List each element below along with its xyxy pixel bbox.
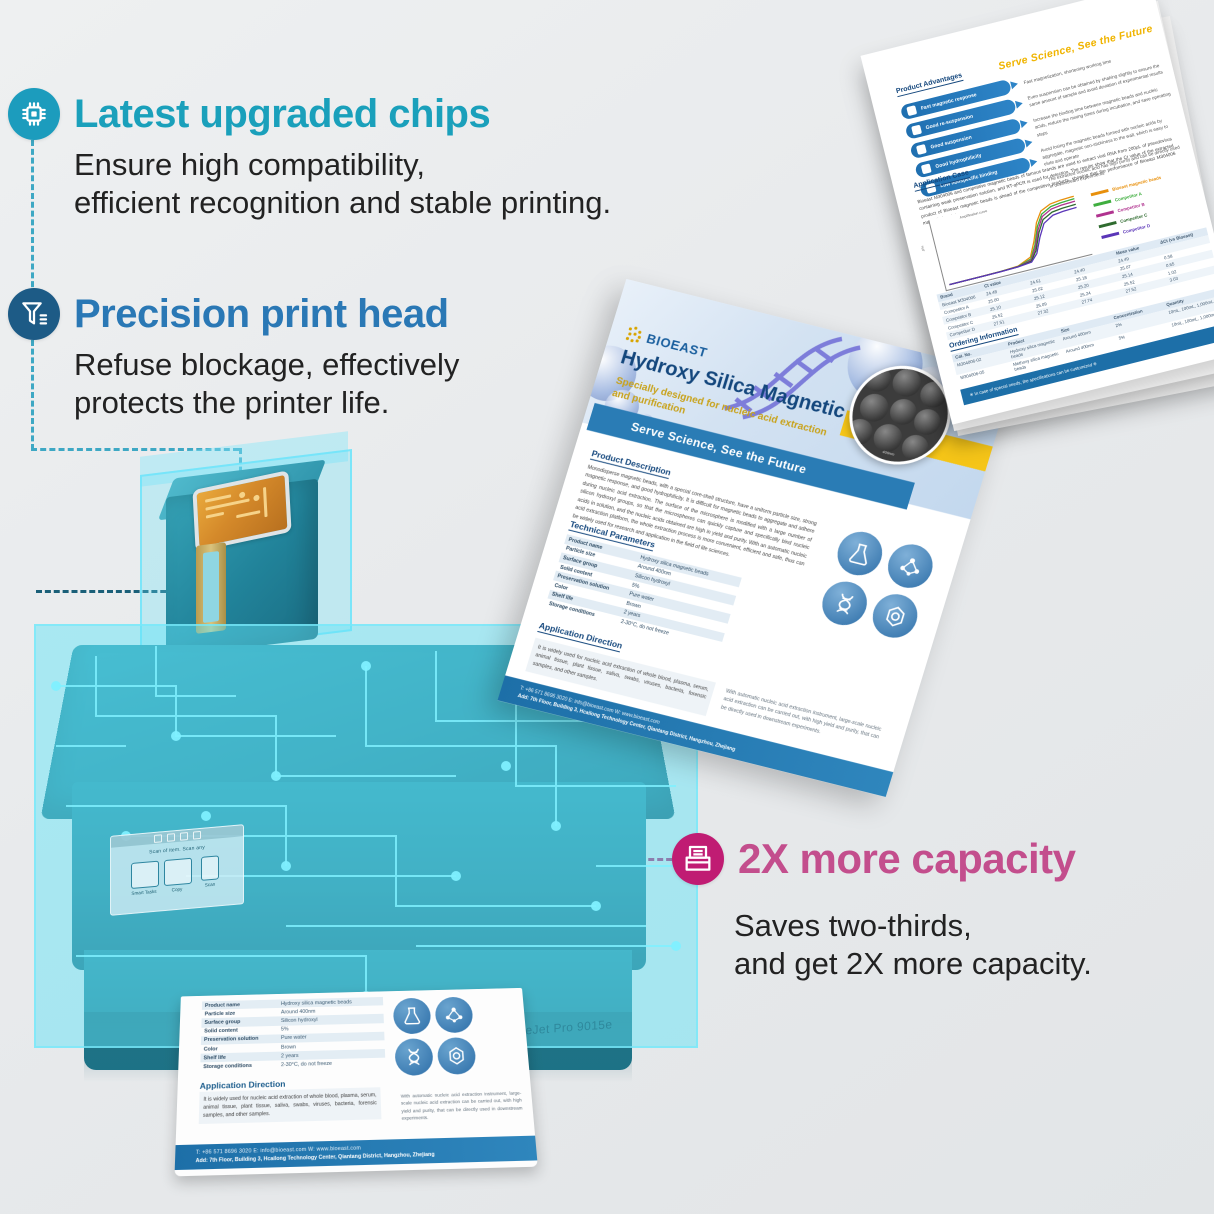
brochure-back-pages: Serve Science, See the Future Product Ad… <box>902 6 1214 426</box>
feature-line: Refuse blockage, effectively <box>74 346 459 384</box>
feature-heading-row: Latest upgraded chips <box>8 88 611 140</box>
param-name: Shelf life <box>203 1053 281 1061</box>
panel-status-icon <box>154 834 162 843</box>
panel-ink-icon <box>180 832 188 841</box>
molecule-icon <box>883 540 939 593</box>
legend-label: Competitor B <box>1117 202 1145 214</box>
param-value: 5% <box>281 1027 289 1033</box>
panel-app-label: Smart Tasks <box>131 889 157 896</box>
feature-title: 2X more capacity <box>738 838 1076 880</box>
param-value: Brown <box>281 1044 296 1050</box>
paper-tray-icon <box>672 833 724 885</box>
dna-icon <box>916 144 927 155</box>
dna-icon <box>817 577 873 630</box>
print-head-nozzle <box>196 542 226 634</box>
legend-swatch <box>1091 189 1109 195</box>
param-name: Storage conditions <box>203 1062 281 1070</box>
feature-body: Saves two-thirds, and get 2X more capaci… <box>734 907 1092 983</box>
droplet-icon <box>921 163 932 174</box>
param-name: Color <box>204 1044 281 1052</box>
chart-ylabel: ΔRn <box>920 245 925 252</box>
legend-swatch <box>1101 232 1119 238</box>
output-application-text: It is widely used for nucleic acid extra… <box>199 1087 382 1124</box>
feature-capacity: 2X more capacity Saves two-thirds, and g… <box>672 833 1092 983</box>
legend-label: Competitor D <box>1122 223 1150 235</box>
feature-body: Ensure high compatibility, efficient rec… <box>74 146 611 222</box>
param-value: Silicon hydroxyl <box>281 1017 318 1024</box>
feature-line: Saves two-thirds, <box>734 907 1092 945</box>
panel-info-icon <box>193 830 201 839</box>
magnet-icon <box>906 105 917 116</box>
feature-body: Refuse blockage, effectively protects th… <box>74 346 459 422</box>
smart-tasks-icon <box>131 861 159 889</box>
scan-icon <box>201 855 219 881</box>
brochure-icon-cluster <box>817 527 938 642</box>
param-value: 2-30°C, do not freeze <box>281 1061 332 1068</box>
brochure-back-page: Serve Science, See the Future Product Ad… <box>860 0 1214 425</box>
param-value: 5% <box>631 582 640 590</box>
legend-swatch <box>1096 211 1114 217</box>
feature-heading-row: Precision print head <box>8 288 459 340</box>
output-icon-grid <box>393 997 477 1076</box>
param-value: Pure water <box>281 1035 307 1041</box>
feature-chips: Latest upgraded chips Ensure high compat… <box>8 88 611 222</box>
tube-icon <box>911 125 922 136</box>
feature-title: Precision print head <box>74 294 449 334</box>
benzene-icon <box>867 590 923 643</box>
bioeast-dot-mark-icon <box>624 325 644 344</box>
chip-icon <box>8 88 60 140</box>
legend-swatch <box>1093 200 1111 206</box>
panel-app-smart-tasks[interactable]: Smart Tasks <box>131 861 157 896</box>
param-value: Hydroxy silica magnetic beads <box>281 999 352 1006</box>
flask-icon <box>832 527 888 580</box>
benzene-icon <box>437 1037 477 1075</box>
feature-title: Latest upgraded chips <box>74 94 490 134</box>
panel-app-copy[interactable]: Copy <box>164 858 190 893</box>
print-head-filter-icon <box>8 288 60 340</box>
advantage-label: Good re-suspension <box>925 113 974 131</box>
copy-icon <box>164 858 192 886</box>
panel-wifi-icon <box>167 833 175 842</box>
flask-icon <box>393 998 432 1035</box>
printed-output-page: Product nameHydroxy silica magnetic bead… <box>174 988 537 1176</box>
feature-line: and get 2X more capacity. <box>734 945 1092 983</box>
advantage-label: Good hydrophilicity <box>935 152 982 169</box>
feature-heading-row: 2X more capacity <box>672 833 1092 885</box>
feature-line: protects the printer life. <box>74 384 459 422</box>
param-value: Around 400nm <box>281 1009 316 1016</box>
panel-app-label: Copy <box>164 886 190 893</box>
printer-control-panel[interactable]: Scan of item. Scan any Smart Tasks Copy … <box>110 824 244 916</box>
legend-label: Competitor C <box>1120 212 1148 224</box>
legend-label: Competitor A <box>1114 191 1142 203</box>
molecule-icon <box>434 997 473 1034</box>
panel-app-scan[interactable]: Scan <box>197 855 223 890</box>
output-footer: T: +86 571 8696 3020 E: info@bioeast.com… <box>175 1136 538 1170</box>
promo-canvas: Scan of item. Scan any Smart Tasks Copy … <box>0 0 1214 1214</box>
legend-swatch <box>1099 221 1117 227</box>
advantage-label: Good suspension <box>930 134 972 150</box>
feature-line: Ensure high compatibility, <box>74 146 611 184</box>
dna-icon <box>394 1038 433 1076</box>
panel-app-grid: Smart Tasks Copy Scan <box>111 853 243 898</box>
panel-app-label: Scan <box>197 881 223 888</box>
feature-print-head: Precision print head Refuse blockage, ef… <box>8 288 459 422</box>
param-name: Preservation solution <box>204 1036 281 1044</box>
output-parameters-table: Product nameHydroxy silica magnetic bead… <box>200 997 385 1072</box>
output-application-text2: With automatic nucleic acid extraction i… <box>401 1090 524 1123</box>
param-value: 2 years <box>281 1053 299 1059</box>
feature-line: efficient recognition and stable printin… <box>74 184 611 222</box>
